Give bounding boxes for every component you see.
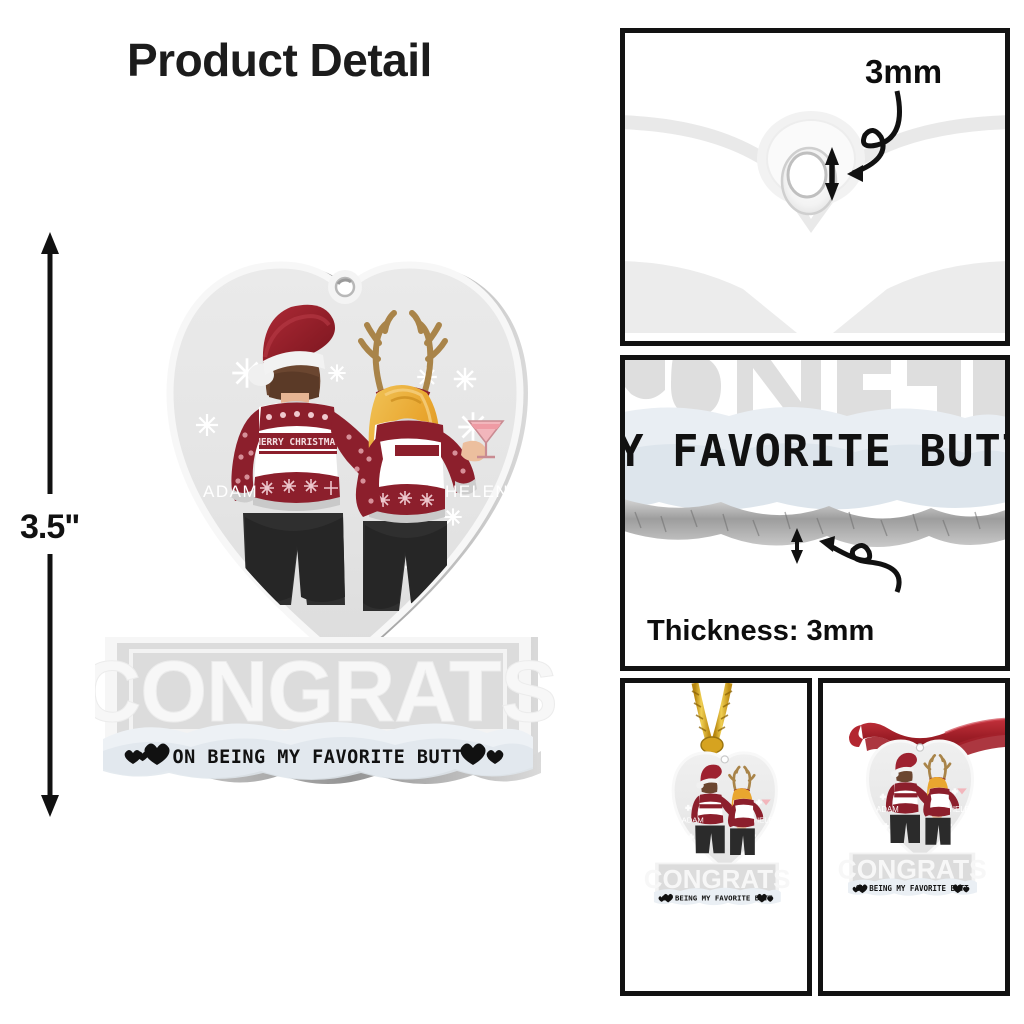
mini-name-right: HELEN [949,805,975,814]
red-ribbon-panel: ADAM HELEN CONGRATS ON BEING MY FAVORITE… [818,678,1010,996]
tagline-text: ON BEING MY FAVORITE BUTT [173,747,464,768]
man-sweater-text: MERRY CHRISTMAS [255,437,341,448]
cropped-tagline-text: Y FAVORITE BUTT [625,426,1005,477]
dimension-label: 3.5" [20,508,79,547]
ornament-illustration: MERRY CHRISTMAS [95,245,595,795]
cord-ornament-illustration: ADAM HELEN CONGRATS ON BEING MY FAVORITE… [625,683,807,991]
page-title: Product Detail [127,33,432,87]
hole-closeup-illustration [625,33,1005,341]
name-right: HELEN [445,482,509,501]
ribbon-ornament-illustration: ADAM HELEN CONGRATS ON BEING MY FAVORITE… [823,683,1005,991]
mini-name-right: HELEN [754,816,780,825]
hole-measure-label: 3mm [865,53,942,91]
gold-cord-panel: ADAM HELEN CONGRATS ON BEING MY FAVORITE… [620,678,812,996]
name-left: ADAM [203,482,258,501]
tagline-strip: ON BEING MY FAVORITE BUTT [103,722,533,780]
thickness-label: Thickness: 3mm [647,615,874,648]
mini-name-left: ADAM [876,805,899,814]
mini-name-left: ADAM [682,816,704,825]
main-ornament-preview: MERRY CHRISTMAS [95,245,595,795]
mini-tagline: ON BEING MY FAVORITE BUTT [662,893,773,902]
hole-detail-panel: 3mm [620,28,1010,346]
mini-tagline: ON BEING MY FAVORITE BUTT [856,884,969,893]
thickness-detail-panel: Y FAVORITE BUTT Thickness: 3mm [620,355,1010,671]
hanging-hole-icon [328,270,362,304]
cord-knot [701,737,723,753]
